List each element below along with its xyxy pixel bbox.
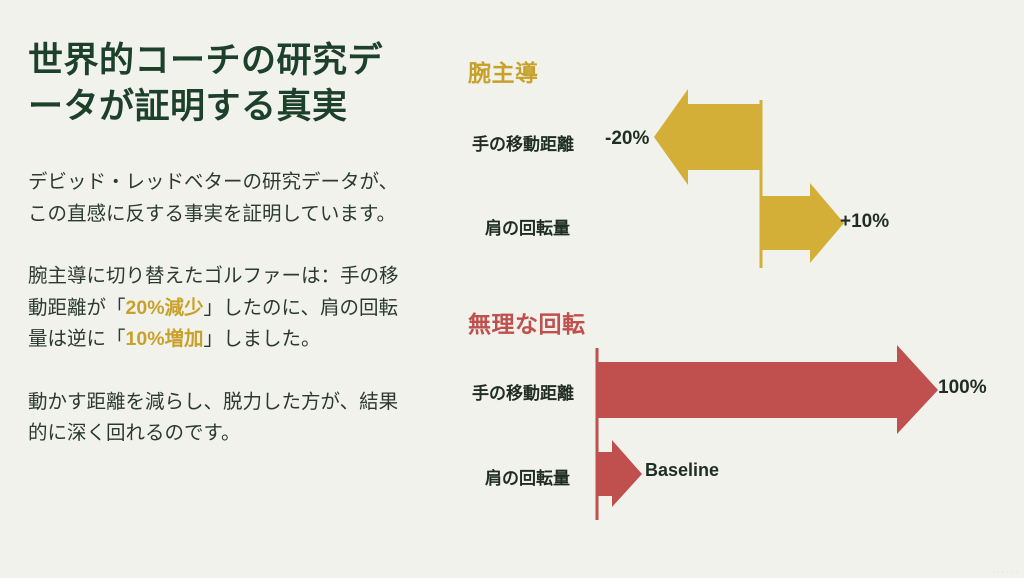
row-label-forced-twist-hand-distance: 手の移動距離 xyxy=(472,379,574,404)
bar-arm-led-hand-distance xyxy=(654,89,761,185)
highlight-hand-decrease: 20%減少 xyxy=(126,297,204,319)
value-label-arm-led-hand-distance: -20% xyxy=(605,128,649,150)
watermark: ······ xyxy=(992,566,1020,578)
paragraph-result: 腕主導に切り替えたゴルファーは：手の移動距離が「20%減少」したのに、肩の回転量… xyxy=(28,261,400,356)
bar-arm-led-shoulder-rotation xyxy=(761,183,844,263)
paragraph-intro: デビッド・レッドベターの研究データが、この直感に反する事実を証明しています。 xyxy=(28,167,400,230)
comparison-arrow-chart xyxy=(460,0,1024,576)
row-label-arm-led-hand-distance: 手の移動距離 xyxy=(472,130,574,155)
result-suffix: 」しました。 xyxy=(204,328,321,350)
page-title-line-1: 世界的コーチの研究デ xyxy=(28,41,383,80)
bar-forced-twist-hand-distance xyxy=(597,345,938,434)
highlight-shoulder-increase: 10%増加 xyxy=(126,328,204,350)
value-label-forced-twist-hand-distance: 100% xyxy=(938,377,987,399)
value-label-forced-twist-shoulder-rotation: Baseline xyxy=(645,460,719,481)
page-title-line-2: ータが証明する真実 xyxy=(28,87,348,126)
row-label-forced-twist-shoulder-rotation: 肩の回転量 xyxy=(485,464,570,489)
paragraph-conclusion: 動かす距離を減らし、脱力した方が、結果的に深く回れるのです。 xyxy=(28,387,400,450)
text-column: 世界的コーチの研究デ ータが証明する真実 デビッド・レッドベターの研究データが、… xyxy=(28,38,428,450)
chart-column: 腕主導 無理な回転 手の移動距離 -20% 肩の回転量 +10% 手の移動距離 … xyxy=(460,0,1024,576)
row-label-arm-led-shoulder-rotation: 肩の回転量 xyxy=(485,214,570,239)
page-title: 世界的コーチの研究デ ータが証明する真実 xyxy=(28,38,420,129)
bar-forced-twist-shoulder-rotation xyxy=(597,440,642,507)
slide: 世界的コーチの研究デ ータが証明する真実 デビッド・レッドベターの研究データが、… xyxy=(0,0,1024,576)
value-label-arm-led-shoulder-rotation: +10% xyxy=(840,211,889,233)
